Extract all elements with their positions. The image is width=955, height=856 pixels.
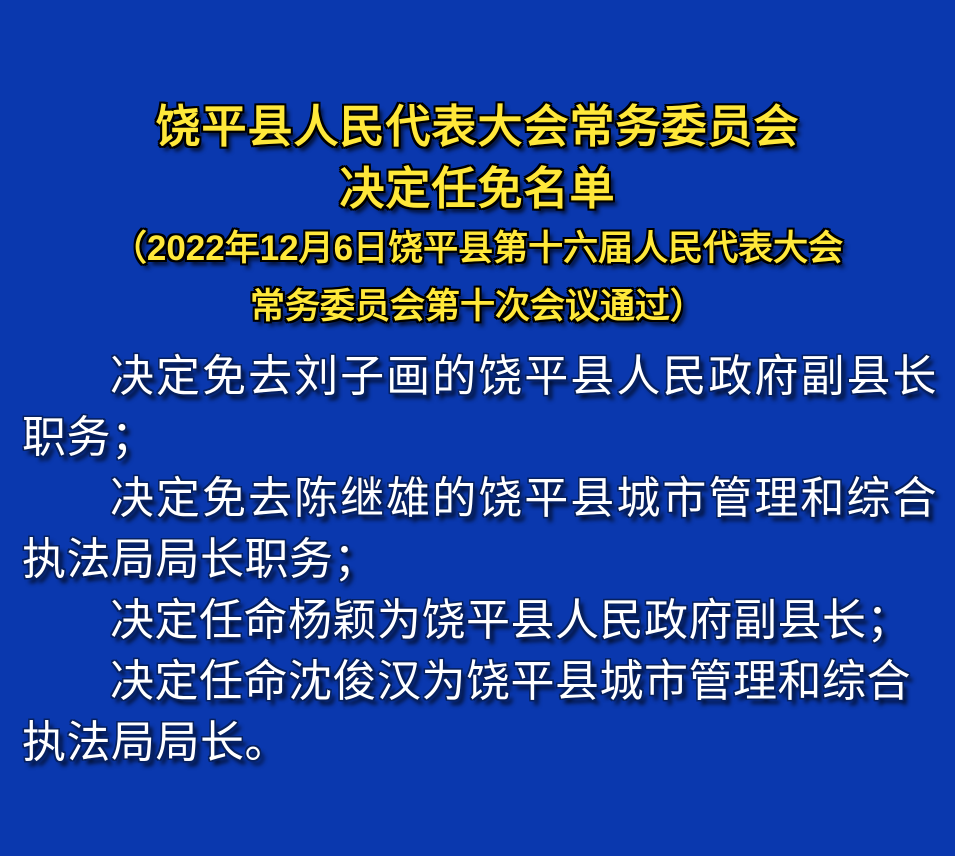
announcement-paragraph: 决定免去陈继雄的饶平县城市管理和综合执法局局长职务； <box>22 468 937 590</box>
page-subtitle-line-2: 常务委员会第十次会议通过） <box>0 278 955 336</box>
announcement-body: 决定免去刘子画的饶平县人民政府副县长职务； 决定免去陈继雄的饶平县城市管理和综合… <box>0 346 955 773</box>
page-title-line-1: 饶平县人民代表大会常务委员会 <box>0 96 955 158</box>
announcement-paragraph: 决定免去刘子画的饶平县人民政府副县长职务； <box>22 346 937 468</box>
announcement-poster: 饶平县人民代表大会常务委员会 决定任免名单 （2022年12月6日饶平县第十六届… <box>0 0 955 856</box>
announcement-paragraph: 决定任命沈俊汉为饶平县城市管理和综合执法局局长。 <box>22 651 937 773</box>
page-title-line-2: 决定任免名单 <box>0 158 955 220</box>
announcement-paragraph: 决定任命杨颖为饶平县人民政府副县长； <box>22 590 937 651</box>
poster-header: 饶平县人民代表大会常务委员会 决定任免名单 （2022年12月6日饶平县第十六届… <box>0 0 955 336</box>
page-subtitle-line-1: （2022年12月6日饶平县第十六届人民代表大会 <box>0 220 955 278</box>
